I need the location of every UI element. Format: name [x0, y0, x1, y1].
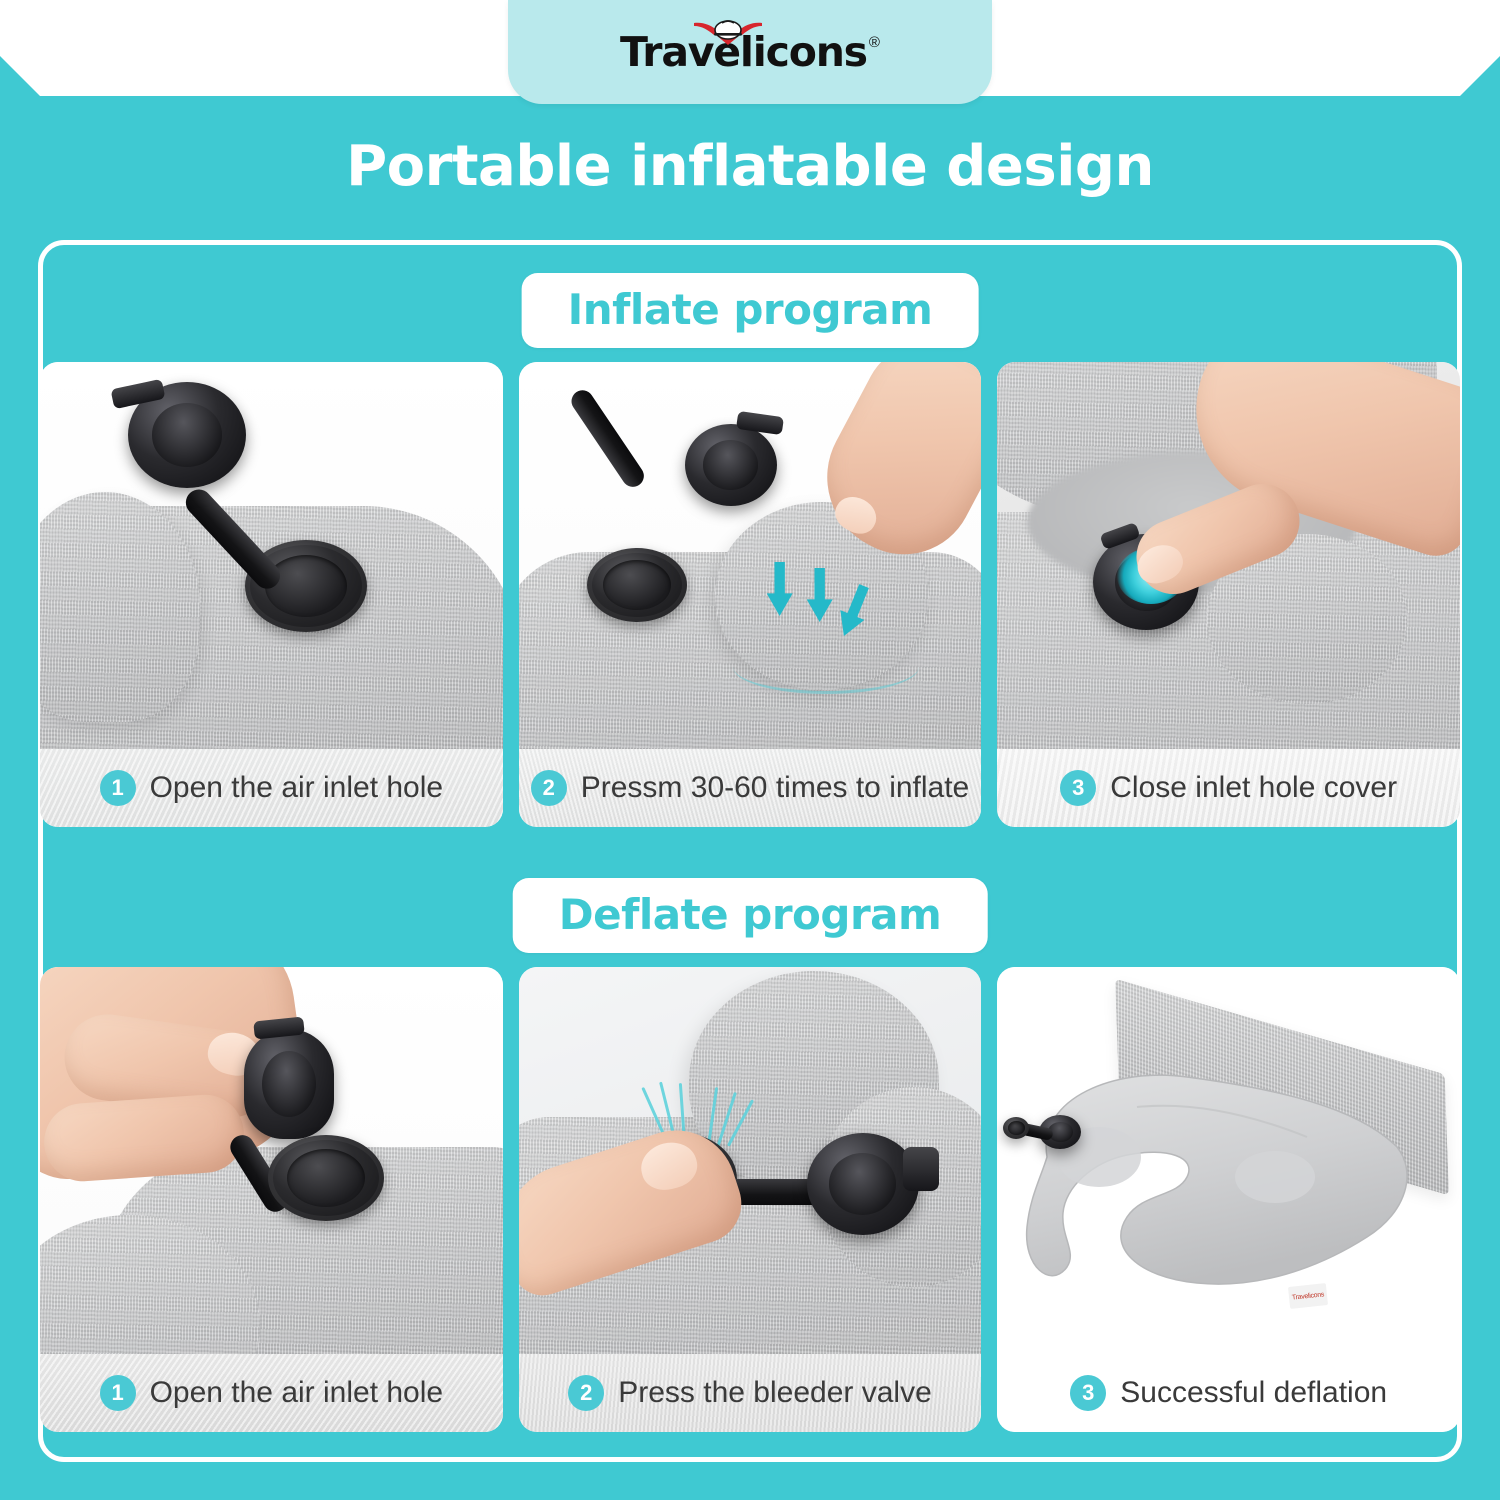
step-number-badge: 1: [100, 1375, 136, 1411]
step-caption-text: Press the bleeder valve: [618, 1376, 932, 1410]
top-left-corner-bevel: [0, 0, 520, 96]
valve-cap: [244, 1029, 334, 1139]
page-title: Portable inflatable design: [0, 134, 1500, 199]
step-card[interactable]: Travelicons 3 Successful deflation: [997, 967, 1460, 1432]
step-number-badge: 3: [1070, 1375, 1106, 1411]
step-caption-text: Pressm 30-60 times to inflate: [581, 771, 970, 805]
section-heading-inflate-label: Inflate program: [568, 285, 933, 334]
step-caption-text: Successful deflation: [1120, 1376, 1387, 1410]
step-number-badge: 3: [1060, 770, 1096, 806]
step-caption: 2 Press the bleeder valve: [519, 1354, 982, 1432]
step-caption: 2 Pressm 30-60 times to inflate: [519, 749, 982, 827]
valve-cap: [685, 424, 777, 506]
step-photo-press-to-inflate: [519, 362, 982, 749]
step-caption: 1 Open the air inlet hole: [40, 749, 503, 827]
step-photo-valve-cap-open: [40, 362, 503, 749]
deflate-step-row: 1 Open the air inlet hole: [40, 967, 1460, 1432]
brand-label-tag-text: Travelicons: [1292, 1291, 1325, 1301]
step-card[interactable]: 1 Open the air inlet hole: [40, 967, 503, 1432]
step-number-badge: 2: [568, 1375, 604, 1411]
valve-base: [587, 548, 687, 622]
valve-cap: [807, 1133, 919, 1235]
inflate-step-row: 1 Open the air inlet hole: [40, 362, 1460, 827]
step-caption: 3 Close inlet hole cover: [997, 749, 1460, 827]
step-photo-hand-opening-valve: [40, 967, 503, 1354]
step-caption: 3 Successful deflation: [997, 1354, 1460, 1432]
section-heading-deflate: Deflate program: [513, 878, 988, 953]
step-caption-text: Close inlet hole cover: [1110, 771, 1397, 805]
section-heading-inflate: Inflate program: [522, 273, 979, 348]
brand-logo-plate: Travelicons ®: [508, 0, 992, 104]
step-card[interactable]: 1 Open the air inlet hole: [40, 362, 503, 827]
top-right-corner-bevel: [980, 0, 1500, 96]
registered-mark: ®: [869, 34, 880, 51]
step-photo-press-bleeder-valve: [519, 967, 982, 1354]
valve-base: [268, 1135, 384, 1221]
section-heading-deflate-label: Deflate program: [559, 890, 942, 939]
brand-label-tag: Travelicons: [1288, 1283, 1328, 1309]
valve-pull-tab: [903, 1147, 939, 1191]
step-number-badge: 2: [531, 770, 567, 806]
step-number-badge: 1: [100, 770, 136, 806]
step-card[interactable]: 3 Close inlet hole cover: [997, 362, 1460, 827]
u-shaped-neck-pillow: [1007, 1037, 1427, 1337]
step-caption-text: Open the air inlet hole: [150, 1376, 444, 1410]
brand-logo: Travelicons ®: [620, 32, 880, 73]
step-caption: 1 Open the air inlet hole: [40, 1354, 503, 1432]
index-finger: [42, 1092, 247, 1184]
step-photo-deflated-pillow: Travelicons: [997, 967, 1460, 1354]
travel-bag-wings-icon: [692, 17, 764, 45]
step-caption-text: Open the air inlet hole: [150, 771, 444, 805]
step-card[interactable]: 2 Press the bleeder valve: [519, 967, 982, 1432]
step-photo-close-inlet-cover: [997, 362, 1460, 749]
step-card[interactable]: 2 Pressm 30-60 times to inflate: [519, 362, 982, 827]
